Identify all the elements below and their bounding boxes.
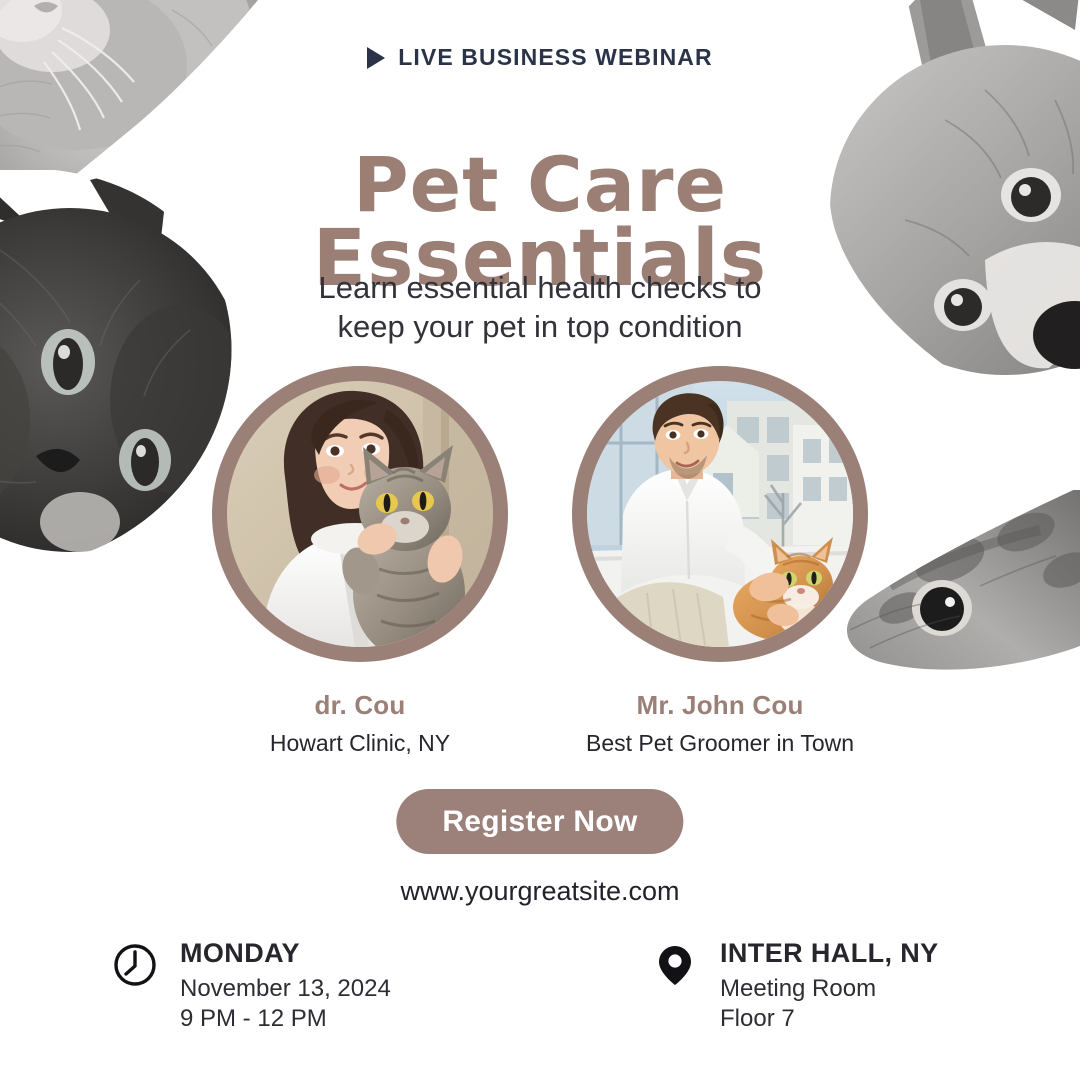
speaker-card-2: Mr. John Cou Best Pet Groomer in Town — [560, 366, 880, 757]
avatar-photo-man-with-cat — [587, 381, 853, 647]
eyebrow-banner: LIVE BUSINESS WEBINAR — [0, 44, 1080, 74]
website-url[interactable]: www.yourgreatsite.com — [0, 876, 1080, 907]
speaker-role-1: Howart Clinic, NY — [200, 730, 520, 757]
avatar-ring-1 — [212, 366, 508, 662]
date-info-text: MONDAY November 13, 2024 9 PM - 12 PM — [180, 938, 391, 1034]
date-line-2: 9 PM - 12 PM — [180, 1004, 391, 1034]
speaker-card-1: dr. Cou Howart Clinic, NY — [200, 366, 520, 757]
map-pin-icon — [652, 938, 698, 993]
speaker-role-2: Best Pet Groomer in Town — [560, 730, 880, 757]
speakers-row: dr. Cou Howart Clinic, NY — [0, 366, 1080, 757]
venue-line-1: Meeting Room — [720, 974, 939, 1004]
play-triangle-icon — [367, 47, 385, 69]
speaker-name-2: Mr. John Cou — [560, 690, 880, 721]
eyebrow-label: LIVE BUSINESS WEBINAR — [398, 44, 712, 71]
venue-heading: INTER HALL, NY — [720, 938, 939, 969]
date-info-block: MONDAY November 13, 2024 9 PM - 12 PM — [112, 938, 391, 1034]
subtitle: Learn essential health checks to keep yo… — [0, 268, 1080, 346]
webinar-poster: LIVE BUSINESS WEBINAR Pet Care Essential… — [0, 0, 1080, 1080]
avatar-ring-2 — [572, 366, 868, 662]
speaker-name-1: dr. Cou — [200, 690, 520, 721]
date-line-1: November 13, 2024 — [180, 974, 391, 1004]
subtitle-line-1: Learn essential health checks to — [0, 268, 1080, 307]
clock-icon — [112, 938, 158, 993]
title-line-1: Pet Care — [0, 149, 1080, 222]
subtitle-line-2: keep your pet in top condition — [0, 307, 1080, 346]
venue-info-block: INTER HALL, NY Meeting Room Floor 7 — [652, 938, 939, 1034]
date-heading: MONDAY — [180, 938, 391, 969]
avatar-photo-woman-with-cat — [227, 381, 493, 647]
venue-line-2: Floor 7 — [720, 1004, 939, 1034]
register-now-button[interactable]: Register Now — [396, 789, 683, 854]
venue-info-text: INTER HALL, NY Meeting Room Floor 7 — [720, 938, 939, 1034]
